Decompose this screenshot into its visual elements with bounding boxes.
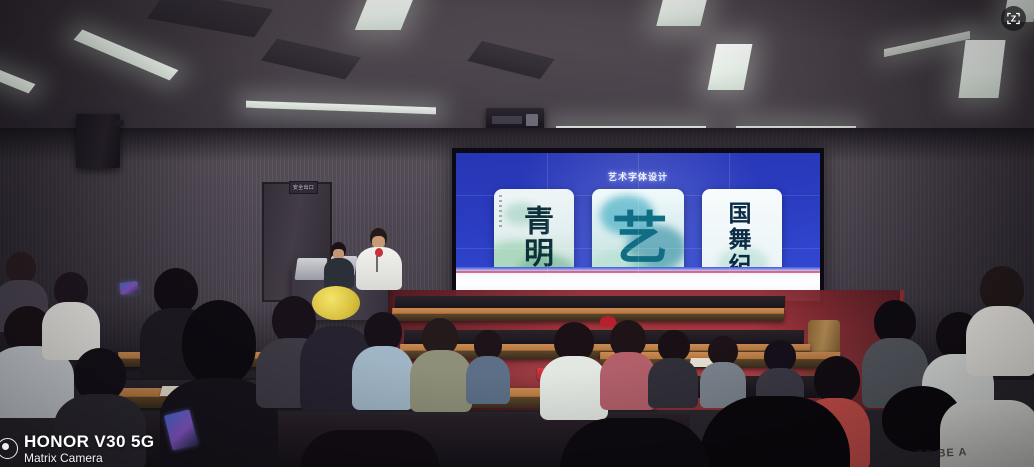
panel-seam xyxy=(547,153,548,301)
panel-seam xyxy=(729,153,730,301)
watermark-subtitle: Matrix Camera xyxy=(24,451,154,465)
smartphone[interactable] xyxy=(119,281,138,295)
hair-bow xyxy=(600,316,616,327)
screen-surface: 艺术字体设计 青明 艺 国舞纪 xyxy=(456,153,820,301)
exit-sign: 安全出口 xyxy=(289,181,318,194)
audience-member xyxy=(700,336,746,406)
audience-member-foreground xyxy=(300,430,440,467)
panel-seam xyxy=(638,153,639,301)
audience-member xyxy=(466,330,510,402)
ceiling-light xyxy=(656,0,707,26)
audience-member xyxy=(352,312,414,408)
presentation-screen: 艺术字体设计 青明 艺 国舞纪 xyxy=(452,148,824,306)
camera-watermark: HONOR V30 5G Matrix Camera xyxy=(8,432,154,465)
audience-member xyxy=(648,330,698,406)
seated-assistant xyxy=(324,242,354,288)
laptop xyxy=(294,258,327,280)
watermark-device-name: HONOR V30 5G xyxy=(24,432,154,451)
panel-seam xyxy=(456,248,820,249)
audience-member xyxy=(966,266,1034,374)
audience-member xyxy=(410,318,472,410)
audience-member xyxy=(540,322,608,418)
speaker-mount xyxy=(112,120,124,126)
camera-viewfinder: 安全出口 艺术字体设计 青明 艺 xyxy=(0,0,1034,467)
honor-logo-icon xyxy=(0,438,18,459)
card-2-char-1: 艺 xyxy=(612,211,668,267)
ai-scan-frame-icon xyxy=(1006,11,1021,26)
ceiling-light xyxy=(958,40,1005,98)
card-1-char-1: 青明 xyxy=(520,205,550,269)
panel-seam xyxy=(456,195,820,196)
presenter xyxy=(356,228,402,290)
audience-member xyxy=(42,272,100,358)
ai-scan-button[interactable] xyxy=(1001,6,1026,31)
